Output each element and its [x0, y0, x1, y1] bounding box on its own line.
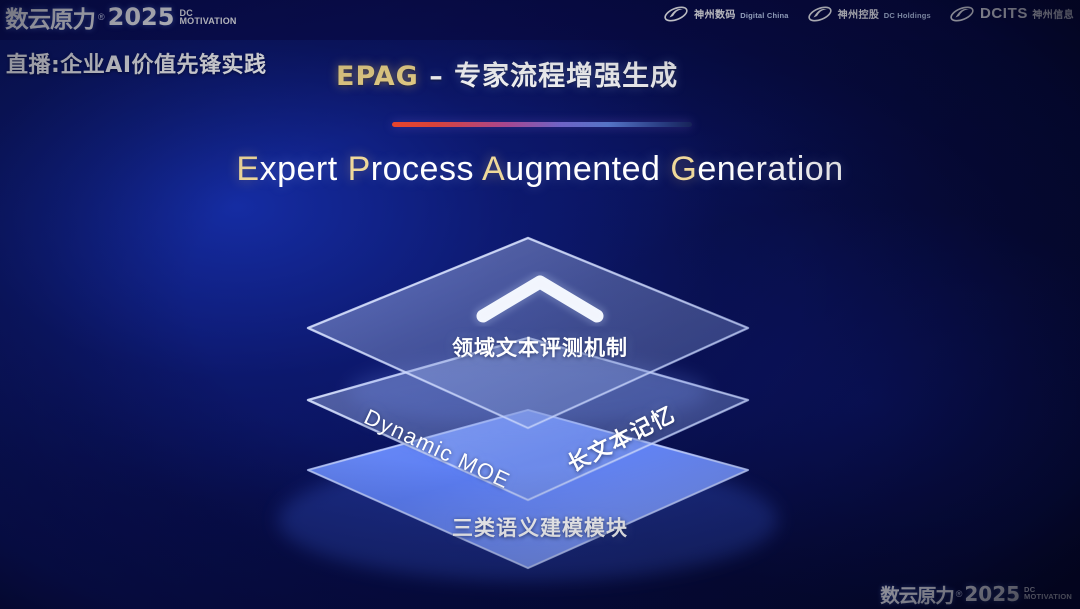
brand-registered-mark: ®	[956, 589, 963, 599]
brand-motivation-label: MOTIVATION	[1024, 594, 1072, 601]
brand-dc-motivation: DC MOTIVATION	[1024, 587, 1072, 601]
layer-label-bottom: 三类语义建模模块	[0, 512, 1080, 542]
layer-label-top: 领域文本评测机制	[0, 332, 1080, 362]
brand-logo-bottom-right: 数云原力® 2025 DC MOTIVATION	[881, 581, 1072, 607]
brand-name-cn: 数云原力	[880, 581, 953, 608]
brand-year: 2025	[964, 582, 1020, 606]
layered-architecture-diagram: 领域文本评测机制 Dynamic MOE 长文本记忆 三类语义建模模块	[0, 0, 1080, 609]
slide-canvas: 数云原力® 2025 DC MOTIVATION 直播:企业AI价值先锋实践 神…	[0, 0, 1080, 609]
